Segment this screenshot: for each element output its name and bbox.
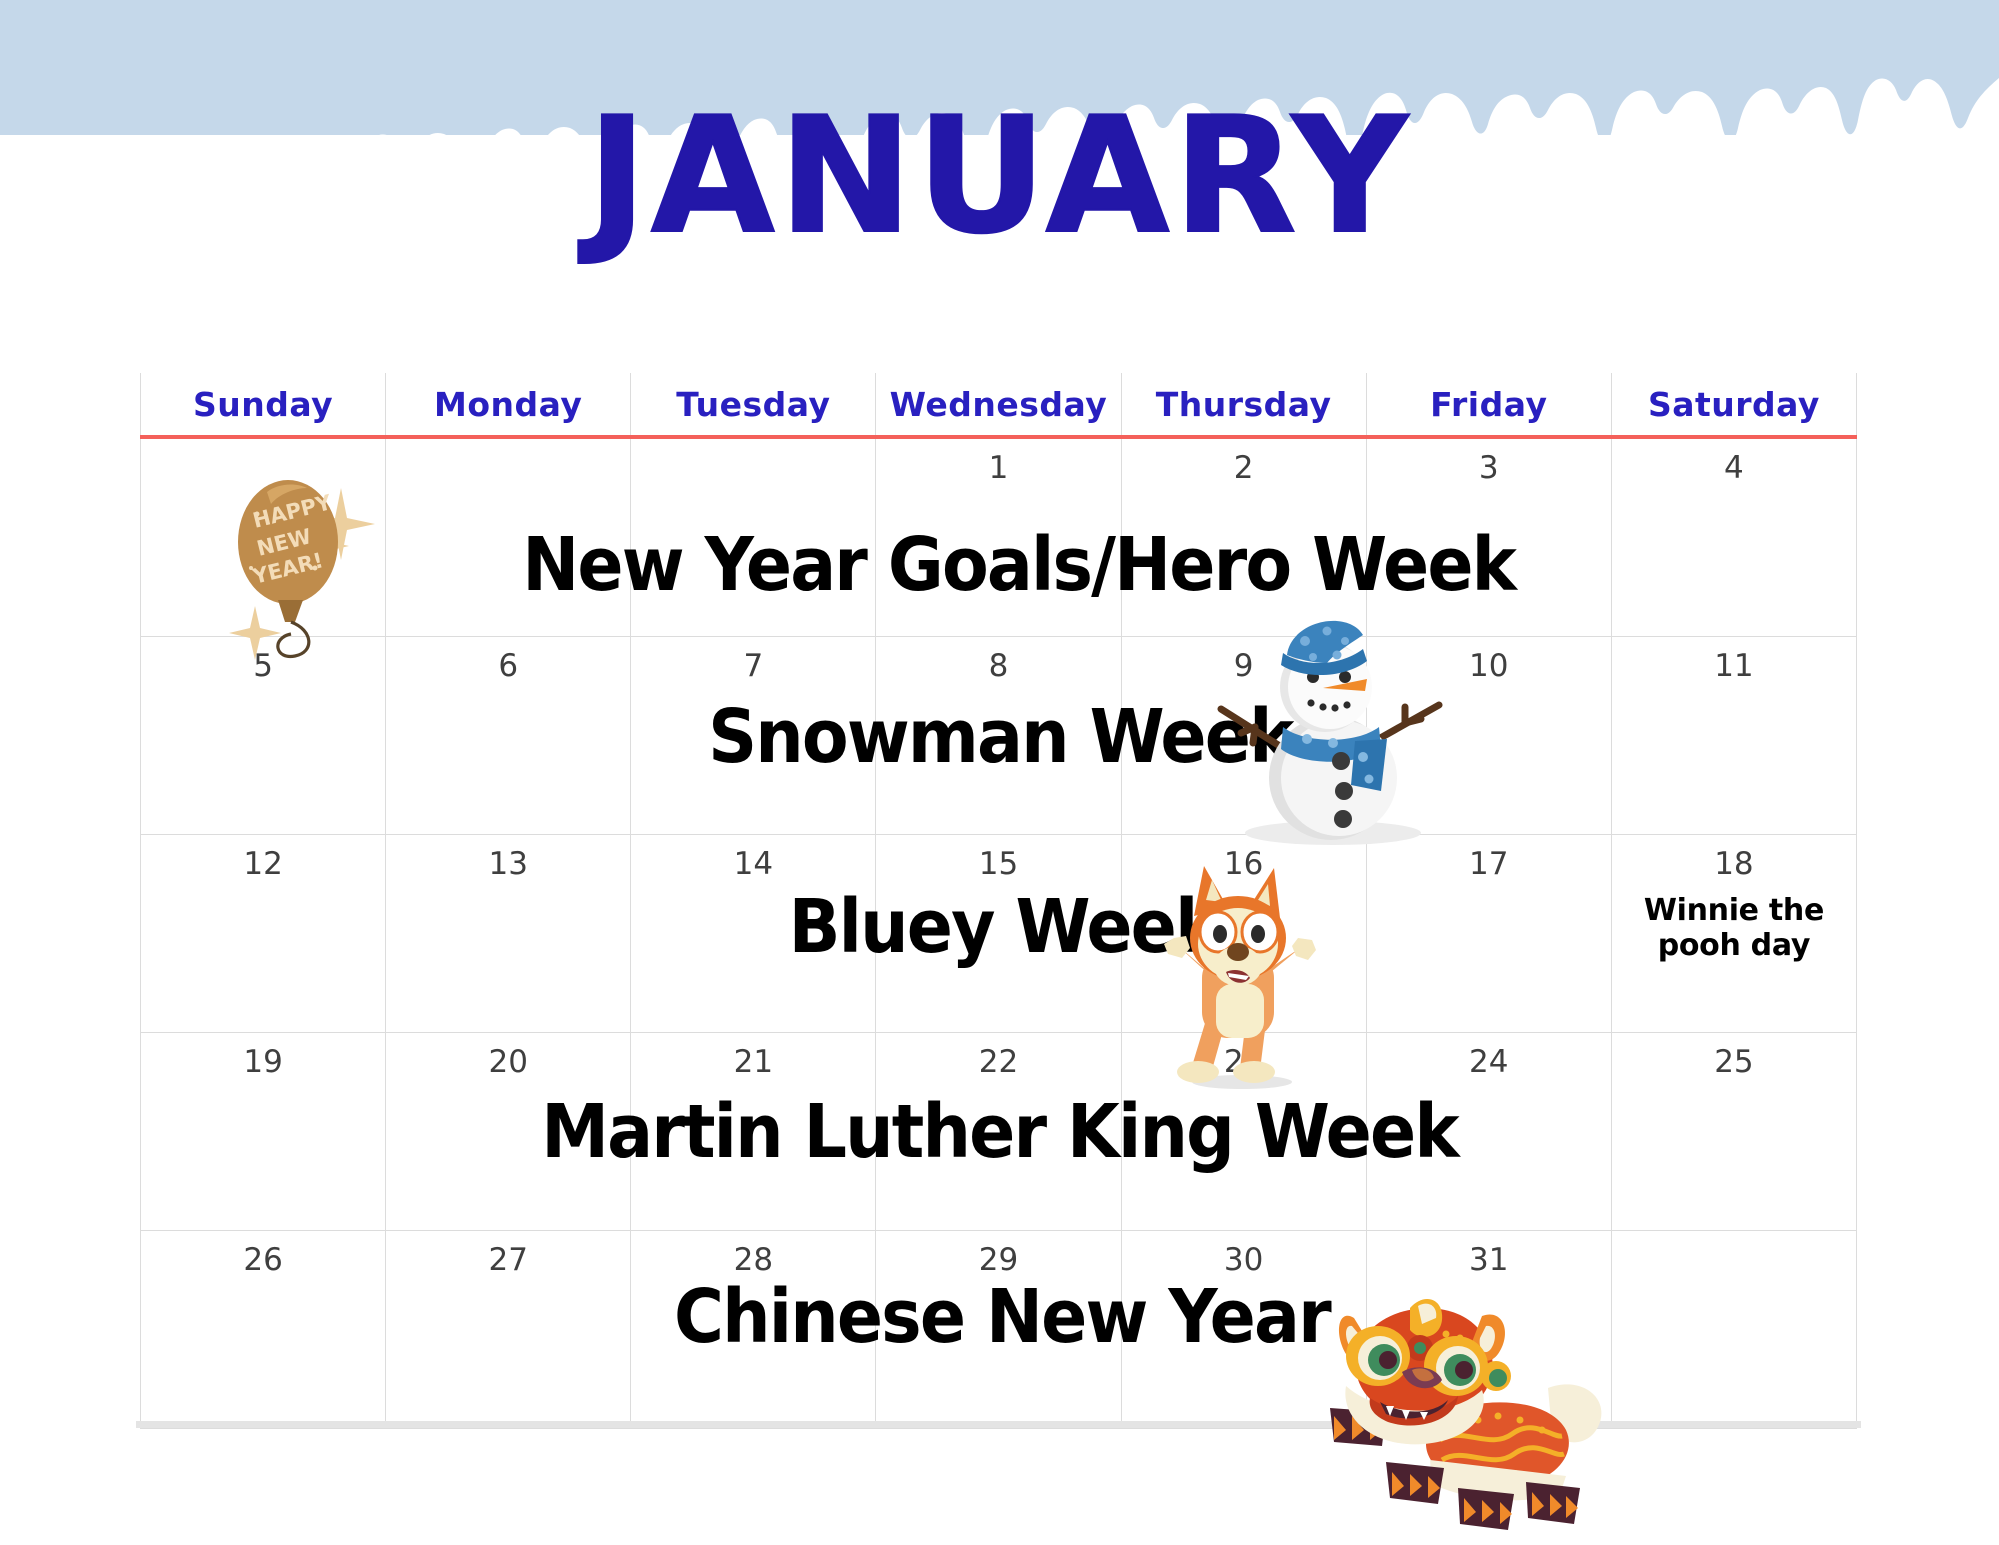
weekday-header-thursday: Thursday (1121, 373, 1366, 437)
day-number (631, 439, 875, 453)
week-banner-bluey-week: Bluey Week (84, 890, 1999, 964)
day-number: 24 (1367, 1033, 1611, 1078)
day-number: 10 (1367, 637, 1611, 682)
day-number: 17 (1367, 835, 1611, 880)
day-number: 29 (876, 1231, 1120, 1276)
week-banner-martin-luther-king-week: Martin Luther King Week (80, 1095, 1919, 1169)
day-number: 7 (631, 637, 875, 682)
day-number: 22 (876, 1033, 1120, 1078)
weekday-label: Sunday (193, 385, 333, 424)
snow-back-layer (0, 0, 1999, 83)
day-number: 11 (1612, 637, 1856, 682)
day-number: 9 (1122, 637, 1366, 682)
day-number: 26 (141, 1231, 385, 1276)
day-number (1612, 1231, 1856, 1245)
lion-fringe (1430, 1460, 1566, 1500)
day-number: 15 (876, 835, 1120, 880)
weekday-label: Friday (1430, 385, 1547, 424)
day-number (386, 439, 630, 453)
week-banner-chinese-new-year: Chinese New Year (82, 1280, 1976, 1354)
day-number: 25 (1612, 1033, 1856, 1078)
day-number: 1 (876, 439, 1120, 484)
day-number: 13 (386, 835, 630, 880)
day-number: 3 (1367, 439, 1611, 484)
day-number: 30 (1122, 1231, 1366, 1276)
weekday-header-row: Sunday Monday Tuesday Wednesday Thursday… (141, 373, 1857, 437)
weekday-header-wednesday: Wednesday (876, 373, 1121, 437)
day-number: 16 (1122, 835, 1366, 880)
day-number: 12 (141, 835, 385, 880)
day-number: 18 (1612, 835, 1856, 880)
weekday-header-sunday: Sunday (141, 373, 386, 437)
weekday-label: Saturday (1648, 385, 1820, 424)
day-number: 6 (386, 637, 630, 682)
day-number: 19 (141, 1033, 385, 1078)
weekday-label: Thursday (1156, 385, 1332, 424)
weekday-header-tuesday: Tuesday (631, 373, 876, 437)
weekday-label: Monday (434, 385, 582, 424)
week-banner-new-year-goals-hero-week: New Year Goals/Hero Week (81, 528, 1938, 602)
day-number: 23 (1122, 1033, 1366, 1078)
week-banner-snowman-week: Snowman Week (81, 700, 1938, 774)
day-number: 28 (631, 1231, 875, 1276)
day-number: 31 (1367, 1231, 1611, 1276)
weekday-label: Tuesday (676, 385, 830, 424)
weekday-label: Wednesday (890, 385, 1108, 424)
weekday-header-monday: Monday (386, 373, 631, 437)
day-number: 8 (876, 637, 1120, 682)
day-number: 20 (386, 1033, 630, 1078)
day-number: 5 (141, 637, 385, 682)
page-title: JANUARY (0, 96, 1999, 256)
day-number: 4 (1612, 439, 1856, 484)
day-number: 27 (386, 1231, 630, 1276)
weekday-header-saturday: Saturday (1611, 373, 1856, 437)
day-number: 14 (631, 835, 875, 880)
day-number (141, 439, 385, 453)
lion-body-pattern (1440, 1428, 1564, 1478)
grid-bottom-edge (136, 1421, 1861, 1428)
day-number: 21 (631, 1033, 875, 1078)
weekday-header-friday: Friday (1366, 373, 1611, 437)
day-number: 2 (1122, 439, 1366, 484)
